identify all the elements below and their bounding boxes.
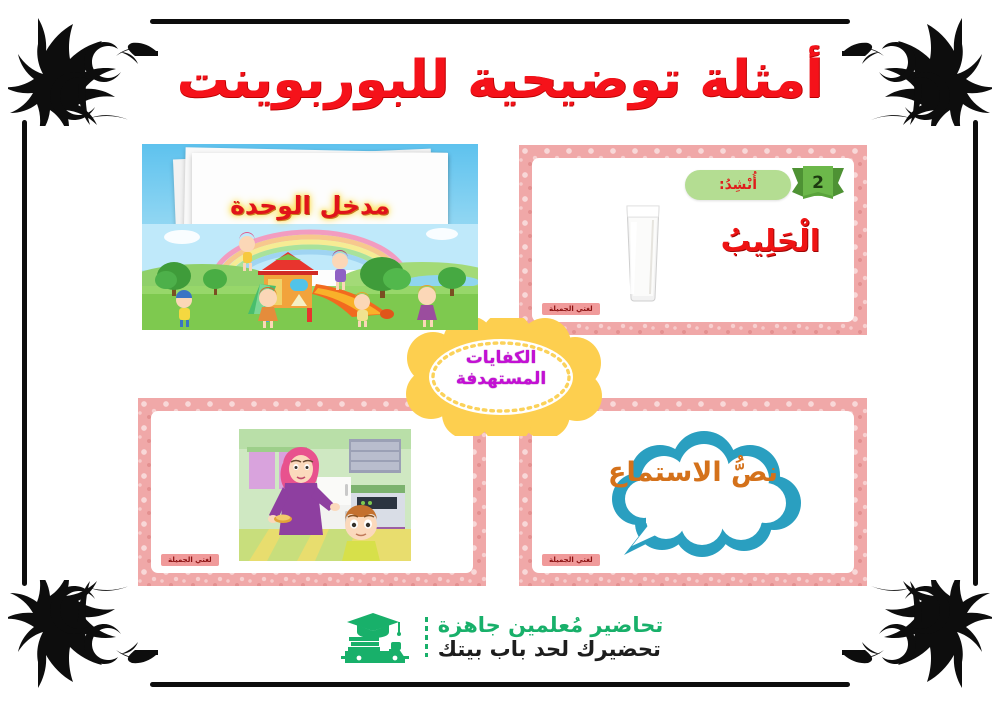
mother-and-boy-kitchen-illustration: [239, 429, 411, 561]
slide-footer-tag: لغتي الجميلة: [161, 554, 219, 566]
poster-page: أمثلة توضيحية للبوربوينت مدخل الوحدة: [0, 0, 1000, 706]
center-competency-badge[interactable]: الكفايات المستهدفة: [395, 318, 607, 436]
slide-number: 2: [792, 166, 844, 200]
border-edge-bottom: [150, 682, 850, 687]
listening-text: نصُّ الاستماع: [532, 457, 854, 488]
page-title: أمثلة توضيحية للبوربوينت: [0, 52, 1000, 109]
cloud-speech-bubble: [594, 431, 824, 559]
footer-brand-text: تحاضير مُعلمين جاهزة تحضيرك لحد باب بيتك: [438, 613, 663, 662]
center-badge-text: الكفايات المستهدفة: [395, 348, 607, 391]
slide-number-ribbon: 2: [792, 166, 844, 200]
footer-line-1: تحاضير مُعلمين جاهزة: [438, 613, 663, 637]
border-edge-left: [22, 120, 27, 586]
milk-word: الْحَلِيبُ: [721, 224, 820, 259]
footer-line-2: تحضيرك لحد باب بيتك: [438, 637, 661, 661]
playground-illustration: [142, 224, 478, 330]
border-edge-right: [973, 120, 978, 586]
center-badge-line2: المستهدفة: [395, 369, 607, 390]
border-edge-top: [150, 19, 850, 24]
unit-intro-heading: مدخل الوحدة: [142, 191, 478, 220]
footer-brand-logo: تحاضير مُعلمين جاهزة تحضيرك لحد باب بيتك: [0, 606, 1000, 668]
delivery-truck-graduation-icon: [337, 611, 415, 663]
center-badge-line1: الكفايات: [395, 348, 607, 369]
slide-footer-tag: لغتي الجميلة: [542, 303, 600, 315]
slide-footer-tag: لغتي الجميلة: [542, 554, 600, 566]
slide-milk[interactable]: أُنْشِدُ: 2 الْحَلِيبُ لغتي الجميلة: [519, 145, 867, 335]
slide-milk-content: أُنْشِدُ: 2 الْحَلِيبُ لغتي الجميلة: [532, 158, 854, 322]
anshid-badge: أُنْشِدُ:: [685, 170, 791, 200]
logo-divider: [425, 617, 428, 657]
slide-unit-intro[interactable]: مدخل الوحدة: [142, 144, 478, 330]
milk-glass-icon: [620, 202, 666, 302]
